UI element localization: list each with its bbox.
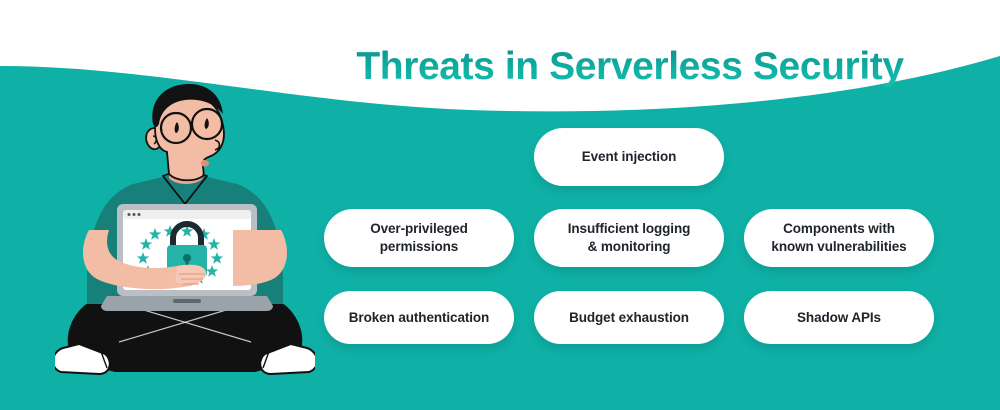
page-title: Threats in Serverless Security (330, 44, 930, 90)
threat-card-label-line2: known vulnerabilities (771, 239, 906, 254)
threat-card-label-line1: Insufficient logging (568, 221, 691, 236)
threat-card-label-line2: permissions (380, 239, 458, 254)
threat-card-over-privileged-permissions[interactable]: Over-privileged permissions (324, 209, 514, 267)
infographic-canvas: Threats in Serverless Security (0, 0, 1000, 410)
threat-card-label: Insufficient logging & monitoring (568, 220, 691, 256)
threat-card-budget-exhaustion[interactable]: Budget exhaustion (534, 291, 724, 344)
threat-card-label: Broken authentication (349, 309, 489, 327)
threat-card-insufficient-logging-monitoring[interactable]: Insufficient logging & monitoring (534, 209, 724, 267)
head (146, 84, 224, 180)
threat-card-broken-authentication[interactable]: Broken authentication (324, 291, 514, 344)
threat-card-label-line2: & monitoring (588, 239, 671, 254)
threat-card-label-line1: Over-privileged (370, 221, 468, 236)
threat-card-components-with-known-vulnerabilities[interactable]: Components with known vulnerabilities (744, 209, 934, 267)
threat-card-label: Budget exhaustion (569, 309, 689, 327)
threat-card-shadow-apis[interactable]: Shadow APIs (744, 291, 934, 344)
threat-card-label: Event injection (582, 148, 677, 166)
threat-card-event-injection[interactable]: Event injection (534, 128, 724, 186)
threat-card-label: Shadow APIs (797, 309, 881, 327)
threat-card-label-line1: Components with (783, 221, 895, 236)
man-with-laptop-illustration (55, 80, 315, 380)
threat-card-label: Over-privileged permissions (370, 220, 468, 256)
threat-card-label: Components with known vulnerabilities (771, 220, 906, 256)
